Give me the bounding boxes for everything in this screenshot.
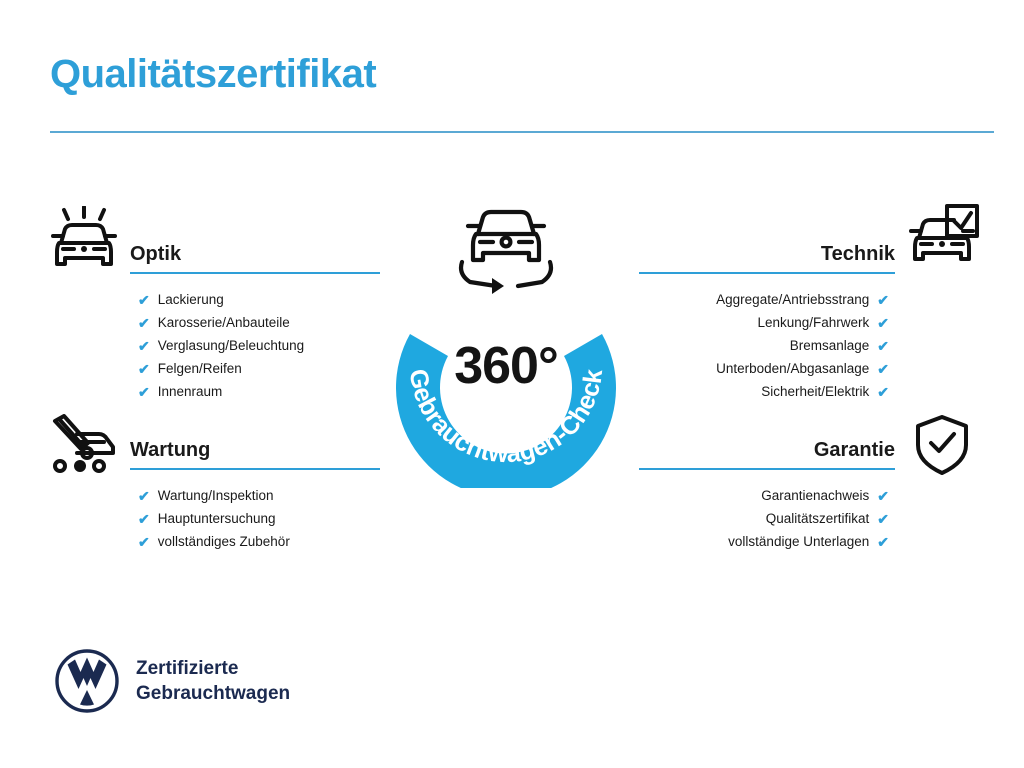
footer-line-2: Gebrauchtwagen (136, 681, 290, 706)
check-icon: ✔ (877, 489, 889, 503)
gebrauchtwagen-check-badge: Gebrauchtwagen-Check 360° (374, 196, 638, 488)
list-item: Lenkung/Fahrwerk✔ (639, 311, 895, 334)
list-item: ✔vollständiges Zubehör (130, 530, 380, 553)
pen-car-service-icon (47, 414, 121, 479)
list-item: ✔Felgen/Reifen (130, 357, 380, 380)
check-icon: ✔ (877, 316, 889, 330)
check-icon: ✔ (138, 535, 150, 549)
check-icon: ✔ (877, 385, 889, 399)
check-icon: ✔ (138, 362, 150, 376)
checklist-wartung: ✔Wartung/Inspektion✔Hauptuntersuchung✔vo… (130, 484, 380, 553)
list-item-label: Lenkung/Fahrwerk (757, 311, 869, 334)
footer-text: Zertifizierte Gebrauchtwagen (136, 656, 290, 706)
list-item: vollständige Unterlagen✔ (639, 530, 895, 553)
check-icon: ✔ (138, 489, 150, 503)
section-divider-garantie (639, 468, 895, 470)
checklist-optik: ✔Lackierung✔Karosserie/Anbauteile✔Vergla… (130, 288, 380, 403)
check-icon: ✔ (138, 339, 150, 353)
section-garantie: GarantieGarantienachweis✔Qualitätszertif… (639, 424, 895, 553)
check-icon: ✔ (138, 293, 150, 307)
car-front-shine-icon (47, 206, 121, 279)
title-divider (50, 131, 994, 133)
section-wartung: Wartung✔Wartung/Inspektion✔Hauptuntersuc… (130, 424, 380, 553)
section-title-garantie: Garantie (814, 439, 895, 462)
volkswagen-logo (54, 648, 120, 714)
list-item: Bremsanlage✔ (639, 334, 895, 357)
section-title-optik: Optik (130, 243, 181, 266)
section-title-technik: Technik (821, 243, 895, 266)
check-icon: ✔ (138, 385, 150, 399)
list-item-label: Innenraum (158, 380, 223, 403)
check-icon: ✔ (877, 362, 889, 376)
list-item: Unterboden/Abgasanlage✔ (639, 357, 895, 380)
car-rotate-360-icon (456, 196, 556, 300)
section-divider-optik (130, 272, 380, 274)
list-item: ✔Lackierung (130, 288, 380, 311)
list-item-label: Verglasung/Beleuchtung (158, 334, 304, 357)
list-item: ✔Karosserie/Anbauteile (130, 311, 380, 334)
check-icon: ✔ (877, 339, 889, 353)
list-item-label: Karosserie/Anbauteile (158, 311, 290, 334)
list-item-label: Unterboden/Abgasanlage (716, 357, 869, 380)
list-item-label: Garantienachweis (761, 484, 869, 507)
list-item-label: Aggregate/Antriebsstrang (716, 288, 869, 311)
list-item: ✔Innenraum (130, 380, 380, 403)
car-front-checkbox-icon (909, 204, 979, 275)
checklist-technik: Aggregate/Antriebsstrang✔Lenkung/Fahrwer… (639, 288, 895, 403)
checklist-garantie: Garantienachweis✔Qualitätszertifikat✔vol… (639, 484, 895, 553)
page-title: Qualitätszertifikat (50, 52, 376, 97)
list-item-label: vollständige Unterlagen (728, 530, 869, 553)
section-divider-wartung (130, 468, 380, 470)
section-technik: TechnikAggregate/Antriebsstrang✔Lenkung/… (639, 228, 895, 403)
list-item-label: Lackierung (158, 288, 224, 311)
check-icon: ✔ (877, 293, 889, 307)
footer-line-1: Zertifizierte (136, 656, 290, 681)
section-divider-technik (639, 272, 895, 274)
list-item-label: Felgen/Reifen (158, 357, 242, 380)
list-item-label: Hauptuntersuchung (158, 507, 276, 530)
list-item-label: Wartung/Inspektion (158, 484, 274, 507)
list-item: Sicherheit/Elektrik✔ (639, 380, 895, 403)
check-icon: ✔ (877, 512, 889, 526)
footer-brand: Zertifizierte Gebrauchtwagen (54, 648, 290, 714)
list-item: Aggregate/Antriebsstrang✔ (639, 288, 895, 311)
check-icon: ✔ (877, 535, 889, 549)
badge-center-label: 360° (374, 336, 638, 396)
list-item-label: Qualitätszertifikat (766, 507, 870, 530)
section-optik: Optik✔Lackierung✔Karosserie/Anbauteile✔V… (130, 228, 380, 403)
list-item-label: vollständiges Zubehör (158, 530, 290, 553)
list-item: Garantienachweis✔ (639, 484, 895, 507)
list-item-label: Bremsanlage (790, 334, 870, 357)
list-item: Qualitätszertifikat✔ (639, 507, 895, 530)
check-icon: ✔ (138, 316, 150, 330)
quality-certificate-page: Qualitätszertifikat (0, 0, 1024, 768)
check-icon: ✔ (138, 512, 150, 526)
list-item-label: Sicherheit/Elektrik (761, 380, 869, 403)
shield-check-icon (913, 414, 971, 481)
list-item: ✔Hauptuntersuchung (130, 507, 380, 530)
section-title-wartung: Wartung (130, 439, 210, 462)
list-item: ✔Wartung/Inspektion (130, 484, 380, 507)
list-item: ✔Verglasung/Beleuchtung (130, 334, 380, 357)
